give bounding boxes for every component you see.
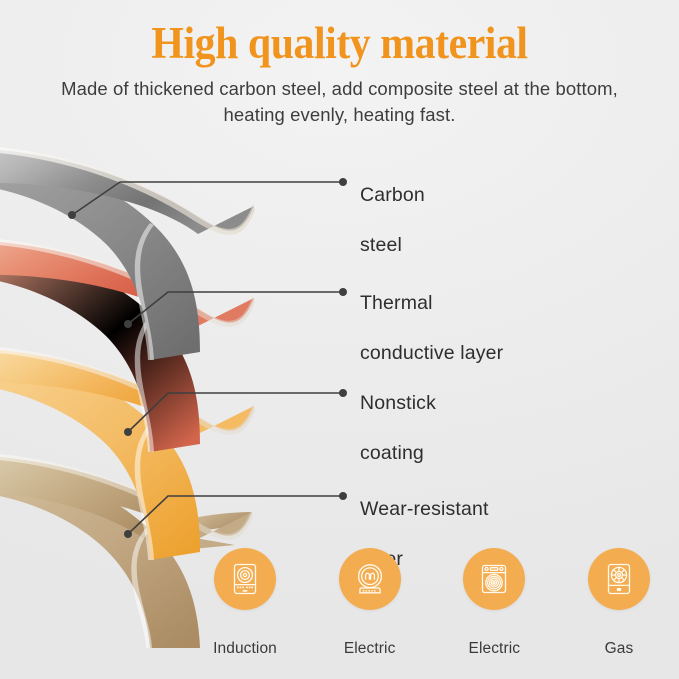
compat-label-induction-cooker: Induction cooker: [213, 619, 277, 679]
layer-label-line-2: coating: [360, 441, 436, 466]
page-title: High quality material: [24, 0, 655, 70]
layer-label-line-1: Nonstick: [360, 391, 436, 416]
compat-label-line-1: Induction: [213, 639, 277, 659]
page-subtitle: Made of thickened carbon steel, add comp…: [40, 76, 640, 129]
infographic-canvas: High quality material Made of thickened …: [0, 0, 679, 679]
compat-item-induction-cooker: Induction cooker: [185, 548, 305, 679]
layer-shape-nonstick: [0, 345, 255, 560]
compat-label-electric-heater: Electric heater: [469, 619, 521, 679]
layer-label-line-1: Thermal: [360, 291, 503, 316]
leader-line-nonstick: [124, 389, 347, 436]
compat-label-electric-pottery-stove: Electric pottery stove: [325, 619, 415, 679]
electric-heater-icon: [475, 560, 513, 598]
compat-badge-electric-pottery-stove: [339, 548, 401, 610]
leader-line-thermal: [124, 288, 347, 328]
layer-label-line-2: steel: [360, 233, 425, 258]
layer-label-line-2: conductive layer: [360, 341, 503, 366]
compat-item-gas-stove: Gas stove: [559, 548, 679, 679]
compat-badge-electric-heater: [463, 548, 525, 610]
leader-line-wear-resistant: [124, 492, 347, 538]
compat-label-line-1: Electric: [325, 639, 415, 659]
leader-line-carbon-steel: [68, 178, 347, 219]
compat-item-electric-pottery-stove: Electric pottery stove: [310, 548, 430, 679]
header: High quality material Made of thickened …: [0, 0, 679, 128]
compat-badge-induction-cooker: [214, 548, 276, 610]
layer-label-line-1: Carbon: [360, 183, 425, 208]
gas-stove-icon: [600, 560, 638, 598]
compat-label-line-1: Electric: [469, 639, 521, 659]
layer-label-carbon-steel: Carbon steel: [360, 158, 425, 283]
compat-item-electric-heater: Electric heater: [434, 548, 554, 679]
compat-label-line-1: Gas: [600, 639, 638, 659]
layer-label-line-1: Wear-resistant: [360, 497, 489, 522]
compatibility-row: Induction cooker: [185, 548, 679, 679]
compat-badge-gas-stove: [588, 548, 650, 610]
induction-cooker-icon: [226, 560, 264, 598]
compat-label-gas-stove: Gas stove: [600, 619, 638, 679]
layer-shape-thermal: [0, 237, 255, 452]
layer-shape-carbon-steel: [0, 145, 255, 360]
electric-pottery-stove-icon: [351, 560, 389, 598]
